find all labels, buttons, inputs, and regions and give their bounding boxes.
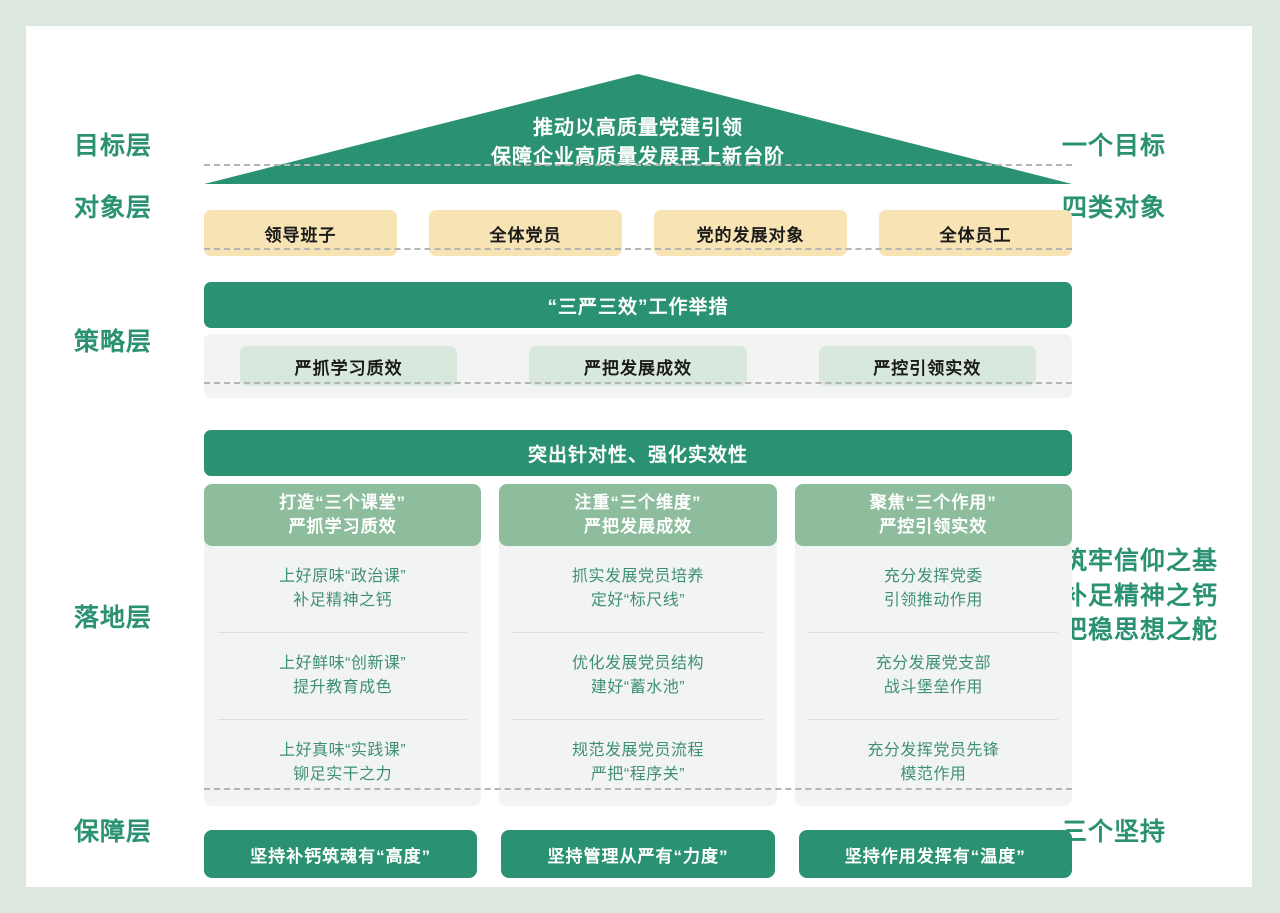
- strategy-block: “三严三效”工作举措 严抓学习质效 严把发展成效 严控引领实效: [204, 282, 1072, 398]
- landing-column-2-items: 充分发挥党委 引领推动作用 充分发展党支部 战斗堡垒作用 充分发挥党员先锋 模范…: [795, 546, 1072, 806]
- landing-banner: 突出针对性、强化实效性: [204, 430, 1072, 476]
- landing-item-line2: 严把“程序关”: [591, 763, 685, 787]
- diagram-panel: 目标层 一个目标 推动以高质量党建引领 保障企业高质量发展再上新台阶 对象层 四…: [26, 26, 1252, 887]
- landing-item-line1: 充分发挥党委: [884, 565, 983, 589]
- goal-triangle: 推动以高质量党建引领 保障企业高质量发展再上新台阶: [204, 74, 1072, 184]
- landing-item[interactable]: 上好原味“政治课” 补足精神之钙: [218, 546, 467, 633]
- landing-column-2: 聚焦“三个作用” 严控引领实效 充分发挥党委 引领推动作用 充分发展党支部 战斗…: [795, 484, 1072, 806]
- landing-item[interactable]: 抓实发展党员培养 定好“标尺线”: [513, 546, 762, 633]
- landing-item-line2: 模范作用: [900, 763, 966, 787]
- landing-item[interactable]: 充分发挥党委 引领推动作用: [809, 546, 1058, 633]
- layer-summary-landing-line3: 把稳思想之舵: [1062, 613, 1218, 648]
- strategy-item-1[interactable]: 严把发展成效: [529, 346, 746, 386]
- landing-column-2-header: 聚焦“三个作用” 严控引领实效: [795, 484, 1072, 546]
- layer-summary-landing: 筑牢信仰之基 补足精神之钙 把稳思想之舵: [1062, 544, 1218, 648]
- layer-summary-guarantee: 三个坚持: [1062, 812, 1166, 848]
- guarantee-items: 坚持补钙筑魂有“高度” 坚持管理从严有“力度” 坚持作用发挥有“温度”: [204, 830, 1072, 878]
- landing-item-line1: 抓实发展党员培养: [572, 565, 704, 589]
- landing-item-line1: 优化发展党员结构: [572, 652, 704, 676]
- divider-object-strategy: [204, 248, 1072, 250]
- layer-label-landing: 落地层: [74, 598, 152, 634]
- landing-item-line2: 铆足实干之力: [293, 763, 392, 787]
- landing-item-line2: 引领推动作用: [884, 589, 983, 613]
- landing-item-line2: 补足精神之钙: [293, 589, 392, 613]
- landing-item-line1: 充分发展党支部: [876, 652, 992, 676]
- landing-column-1: 注重“三个维度” 严把发展成效 抓实发展党员培养 定好“标尺线” 优化发展党员结…: [499, 484, 776, 806]
- landing-block: 突出针对性、强化实效性 打造“三个课堂” 严抓学习质效 上好原味“政治课” 补足…: [204, 430, 1072, 806]
- landing-column-0-header: 打造“三个课堂” 严抓学习质效: [204, 484, 481, 546]
- guarantee-item-0[interactable]: 坚持补钙筑魂有“高度”: [204, 830, 477, 878]
- strategy-item-0[interactable]: 严抓学习质效: [240, 346, 457, 386]
- goal-title-line2: 保障企业高质量发展再上新台阶: [204, 143, 1072, 172]
- strategy-items: 严抓学习质效 严把发展成效 严控引领实效: [204, 334, 1072, 398]
- landing-column-2-header-line2: 严控引领实效: [879, 515, 987, 539]
- landing-column-0-items: 上好原味“政治课” 补足精神之钙 上好鲜味“创新课” 提升教育成色 上好真味“实…: [204, 546, 481, 806]
- divider-landing-guarantee: [204, 788, 1072, 790]
- layer-label-goal: 目标层: [74, 126, 152, 162]
- landing-item-line2: 提升教育成色: [293, 676, 392, 700]
- landing-column-1-header-line2: 严把发展成效: [584, 515, 692, 539]
- guarantee-item-2[interactable]: 坚持作用发挥有“温度”: [799, 830, 1072, 878]
- landing-item-line2: 战斗堡垒作用: [884, 676, 983, 700]
- landing-item[interactable]: 上好真味“实践课” 铆足实干之力: [218, 720, 467, 806]
- landing-column-1-header: 注重“三个维度” 严把发展成效: [499, 484, 776, 546]
- landing-item-line1: 上好鲜味“创新课”: [279, 652, 406, 676]
- landing-column-0: 打造“三个课堂” 严抓学习质效 上好原味“政治课” 补足精神之钙 上好鲜味“创新…: [204, 484, 481, 806]
- landing-columns: 打造“三个课堂” 严抓学习质效 上好原味“政治课” 补足精神之钙 上好鲜味“创新…: [204, 484, 1072, 806]
- strategy-item-2[interactable]: 严控引领实效: [819, 346, 1036, 386]
- landing-item-line2: 定好“标尺线”: [591, 589, 685, 613]
- landing-column-2-header-line1: 聚焦“三个作用”: [870, 491, 997, 515]
- landing-item-line1: 充分发挥党员先锋: [867, 739, 999, 763]
- landing-item[interactable]: 优化发展党员结构 建好“蓄水池”: [513, 633, 762, 720]
- landing-item-line1: 上好真味“实践课”: [279, 739, 406, 763]
- divider-goal-object: [204, 164, 1072, 166]
- landing-item[interactable]: 充分发挥党员先锋 模范作用: [809, 720, 1058, 806]
- layer-summary-landing-line1: 筑牢信仰之基: [1062, 544, 1218, 579]
- goal-title-line1: 推动以高质量党建引领: [204, 114, 1072, 143]
- guarantee-item-1[interactable]: 坚持管理从严有“力度”: [501, 830, 774, 878]
- landing-column-0-header-line1: 打造“三个课堂”: [279, 491, 406, 515]
- divider-strategy-landing: [204, 382, 1072, 384]
- layer-label-strategy: 策略层: [74, 322, 152, 358]
- layer-label-object: 对象层: [74, 188, 152, 224]
- landing-item-line1: 规范发展党员流程: [572, 739, 704, 763]
- landing-item[interactable]: 充分发展党支部 战斗堡垒作用: [809, 633, 1058, 720]
- layer-summary-landing-line2: 补足精神之钙: [1062, 579, 1218, 614]
- landing-item[interactable]: 上好鲜味“创新课” 提升教育成色: [218, 633, 467, 720]
- landing-item[interactable]: 规范发展党员流程 严把“程序关”: [513, 720, 762, 806]
- layer-summary-object: 四类对象: [1062, 188, 1166, 224]
- layer-summary-goal: 一个目标: [1062, 126, 1166, 162]
- landing-item-line1: 上好原味“政治课”: [279, 565, 406, 589]
- layer-label-guarantee: 保障层: [74, 812, 152, 848]
- strategy-banner: “三严三效”工作举措: [204, 282, 1072, 328]
- landing-item-line2: 建好“蓄水池”: [591, 676, 685, 700]
- landing-column-0-header-line2: 严抓学习质效: [289, 515, 397, 539]
- landing-column-1-items: 抓实发展党员培养 定好“标尺线” 优化发展党员结构 建好“蓄水池” 规范发展党员…: [499, 546, 776, 806]
- landing-column-1-header-line1: 注重“三个维度”: [574, 491, 701, 515]
